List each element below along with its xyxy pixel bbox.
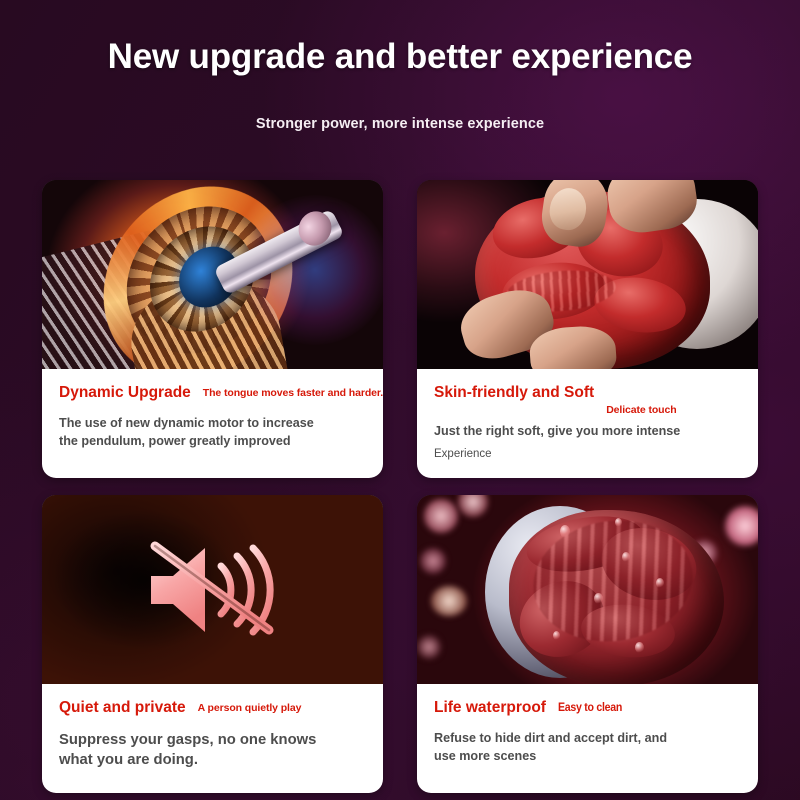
card-body: Skin-friendly and Soft Delicate touch Ju…	[417, 369, 758, 478]
card-heading: Life waterproof	[434, 698, 546, 718]
card-heading: Quiet and private	[59, 698, 186, 718]
feature-card-dynamic-upgrade[interactable]: Dynamic Upgrade The tongue moves faster …	[42, 180, 383, 478]
feature-card-grid: Dynamic Upgrade The tongue moves faster …	[42, 180, 758, 793]
card-description-second-line: Experience	[434, 448, 741, 460]
wet-red-sleeve-bokeh-photo	[417, 495, 758, 684]
card-tagline: Easy to clean	[558, 702, 622, 714]
promo-page: New upgrade and better experience Strong…	[0, 0, 800, 800]
card-description: Suppress your gasps, no one knows what y…	[59, 731, 366, 771]
card-tagline: The tongue moves faster and harder.	[203, 387, 383, 399]
page-subtitle: Stronger power, more intense experience	[0, 77, 800, 132]
page-header: New upgrade and better experience Strong…	[0, 0, 800, 132]
motor-cutaway-photo	[42, 180, 383, 369]
hand-squeezing-red-sleeve-photo	[417, 180, 758, 369]
card-description: Refuse to hide dirt and accept dirt, and…	[434, 730, 741, 766]
card-body: Quiet and private A person quietly play …	[42, 684, 383, 793]
mute-speaker-icon-photo	[42, 495, 383, 684]
card-heading: Skin-friendly and Soft	[434, 383, 594, 403]
feature-card-quiet-private[interactable]: Quiet and private A person quietly play …	[42, 495, 383, 793]
card-description: The use of new dynamic motor to increase…	[59, 415, 366, 451]
feature-card-life-waterproof[interactable]: Life waterproof Easy to clean Refuse to …	[417, 495, 758, 793]
feature-card-skin-friendly[interactable]: Skin-friendly and Soft Delicate touch Ju…	[417, 180, 758, 478]
card-body: Dynamic Upgrade The tongue moves faster …	[42, 369, 383, 478]
mute-icon	[139, 538, 287, 642]
card-description: Just the right soft, give you more inten…	[434, 423, 741, 441]
card-tagline: Delicate touch	[606, 404, 676, 416]
card-tagline: A person quietly play	[198, 702, 302, 714]
card-heading: Dynamic Upgrade	[59, 383, 191, 403]
page-title: New upgrade and better experience	[0, 0, 800, 77]
card-body: Life waterproof Easy to clean Refuse to …	[417, 684, 758, 793]
